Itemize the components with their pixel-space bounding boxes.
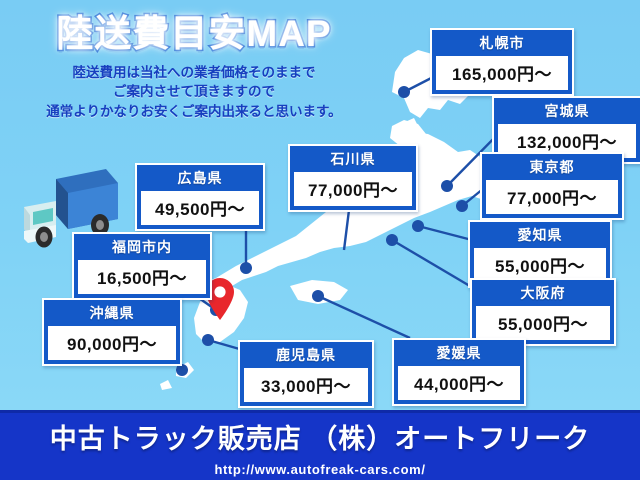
page-title: 陸送費目安MAP [14,14,374,55]
price-box-ehime[interactable]: 愛媛県 44,000円～ [392,338,526,406]
connector-osaka [392,240,480,292]
island-okinawa-small [160,380,172,390]
price-amount-fukuoka: 16,500円～ [76,260,208,296]
price-box-ishikawa[interactable]: 石川県 77,000円～ [288,144,418,212]
price-amount-kagoshima: 33,000円～ [242,368,370,404]
price-region-aichi: 愛知県 [470,222,610,248]
subtitle-line-1: 陸送費用は当社への業者価格そのままで [14,63,374,83]
price-amount-ehime: 44,000円～ [396,366,522,402]
price-region-osaka: 大阪府 [472,280,614,306]
connector-ehime [318,296,410,338]
price-amount-sapporo: 165,000円～ [434,56,570,92]
shipping-cost-map-infographic: 陸送費目安MAP 陸送費用は当社への業者価格そのままで ご案内させて頂きますので… [0,0,640,480]
map-dot-aichi [412,220,424,232]
map-dot-sapporo [398,86,410,98]
price-amount-tokyo: 77,000円～ [484,180,620,216]
map-dot-tokyo [456,200,468,212]
price-box-hiroshima[interactable]: 広島県 49,500円～ [135,163,265,231]
price-region-sapporo: 札幌市 [432,30,572,56]
price-region-ishikawa: 石川県 [290,146,416,172]
subtitle-line-3: 通常よりかなりお安くご案内出来ると思います。 [14,102,374,122]
price-amount-osaka: 55,000円～ [474,306,612,342]
price-box-tokyo[interactable]: 東京都 77,000円～ [480,152,624,220]
price-box-okinawa[interactable]: 沖縄県 90,000円～ [42,298,182,366]
price-region-kagoshima: 鹿児島県 [240,342,372,368]
price-amount-hiroshima: 49,500円～ [139,191,261,227]
price-region-hiroshima: 広島県 [137,165,263,191]
website-url[interactable]: http://www.autofreak-cars.com/ [0,453,640,477]
subtitle-line-2: ご案内させて頂きますので [14,82,374,102]
subtitle-block: 陸送費用は当社への業者価格そのままで ご案内させて頂きますので 通常よりかなりお… [14,63,374,122]
map-dot-ehime [312,290,324,302]
price-region-ehime: 愛媛県 [394,340,524,366]
price-region-miyagi: 宮城県 [494,98,640,124]
price-box-kagoshima[interactable]: 鹿児島県 33,000円～ [238,340,374,408]
title-block: 陸送費目安MAP 陸送費用は当社への業者価格そのままで ご案内させて頂きますので… [14,14,374,121]
price-amount-ishikawa: 77,000円～ [292,172,414,208]
price-region-tokyo: 東京都 [482,154,622,180]
connector-aichi [418,226,472,240]
price-box-sapporo[interactable]: 札幌市 165,000円～ [430,28,574,96]
map-dot-miyagi [441,180,453,192]
price-region-okinawa: 沖縄県 [44,300,180,326]
price-region-fukuoka: 福岡市内 [74,234,210,260]
price-amount-okinawa: 90,000円～ [46,326,178,362]
footer-bar: 中古トラック販売店 （株）オートフリーク http://www.autofrea… [0,410,640,480]
company-name: 中古トラック販売店 （株）オートフリーク [0,413,640,453]
map-dot-hiroshima [240,262,252,274]
price-box-fukuoka[interactable]: 福岡市内 16,500円～ [72,232,212,300]
price-box-osaka[interactable]: 大阪府 55,000円～ [470,278,616,346]
map-dot-kagoshima [202,334,214,346]
map-dot-osaka [386,234,398,246]
